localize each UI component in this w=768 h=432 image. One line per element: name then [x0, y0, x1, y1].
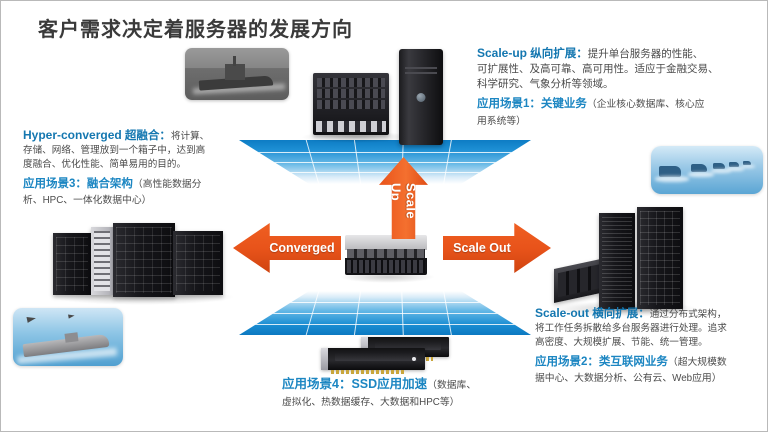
scale-up-desc-line-1: 提升单台服务器的性能、 [588, 48, 704, 60]
rack-unit [599, 213, 635, 309]
slide-canvas: 客户需求决定着服务器的发展方向 [0, 0, 768, 432]
hyper-converged-desc-line-3: 度融合、优化性能、简单易用的目的。 [23, 158, 255, 172]
scale-up-scenario-title: 应用场景1：关键业务 [477, 98, 587, 110]
scale-out-definition: Scale-out 横向扩展：通过分布式架构， 将工作任务拆散给多台服务器进行处… [535, 305, 767, 350]
grid-plane-face [239, 140, 531, 184]
scale-out-desc-line-1: 通过分布式架构， [650, 309, 727, 320]
scale-up-definition: Scale-up 纵向扩展：提升单台服务器的性能、 可扩展性、及高可靠、高可用性… [477, 45, 761, 92]
scale-up-text-block: Scale-up 纵向扩展：提升单台服务器的性能、 可扩展性、及高可靠、高可用性… [477, 45, 761, 129]
hyper-converged-desc-line-1: 将计算、 [171, 131, 209, 142]
scale-up-scenario-detail-2: 用系统等） [477, 115, 761, 129]
converged-arrow-label: Converged [263, 223, 341, 273]
converged-arrow[interactable]: Converged [233, 223, 341, 273]
scale-out-desc-line-2: 将工作任务拆散给多台服务器进行处理。追求 [535, 322, 767, 336]
page-title: 客户需求决定着服务器的发展方向 [38, 13, 353, 42]
battleship-photo [185, 48, 289, 100]
scale-up-term-cn: 纵向扩展 [530, 48, 576, 60]
hyper-converged-desc-line-2: 存储、网络、管理放到一个箱子中，达到高 [23, 144, 255, 158]
hyper-converged-definition: Hyper-converged 超融合：将计算、 存储、网络、管理放到一个箱子中… [23, 127, 255, 172]
hyper-converged-term-en: Hyper-converged [23, 128, 122, 142]
ssd-scenario-title: 应用场景4：SSD应用加速 [282, 377, 427, 391]
scale-up-scenario: 应用场景1：关键业务（企业核心数据库、核心应 用系统等） [477, 92, 761, 129]
ssd-scenario: 应用场景4：SSD应用加速（数据库、 虚拟化、热数据缓存、大数据和HPC等） [282, 373, 572, 410]
colon: ： [159, 130, 171, 142]
scale-up-desc-line-2: 可扩展性、及高可靠、高可用性。适应于金融交易、 [477, 62, 761, 77]
colon: ： [638, 308, 650, 320]
rack-unit [173, 231, 223, 295]
scale-out-term-en: Scale-out [535, 306, 589, 320]
ssd-card [321, 348, 425, 370]
ssd-scenario-detail-1: （数据库、 [427, 380, 476, 391]
blade-chassis-image [313, 73, 389, 135]
tower-server-image [399, 49, 443, 145]
hyper-converged-text-block: Hyper-converged 超融合：将计算、 存储、网络、管理放到一个箱子中… [23, 127, 255, 208]
perspective-grid-plane-bottom [239, 291, 531, 335]
scale-out-arrow[interactable]: Scale Out [443, 223, 551, 273]
hyper-converged-scenario-detail-1: （高性能数据分 [133, 179, 202, 190]
scale-up-scenario-detail-1: （企业核心数据库、核心应 [587, 99, 705, 110]
scale-up-desc-line-3: 科学研究、气象分析等领域。 [477, 77, 761, 92]
hyper-converged-scenario: 应用场景3：融合架构（高性能数据分 析、HPC、一体化数据中心） [23, 172, 255, 209]
pcie-ssd-cards-image [321, 337, 449, 371]
scale-out-scenario-title: 应用场景2：类互联网业务 [535, 356, 668, 368]
hyper-converged-scenario-title: 应用场景3：融合架构 [23, 178, 133, 190]
scale-out-arrow-label: Scale Out [443, 223, 521, 273]
hyper-converged-scenario-detail-2: 析、HPC、一体化数据中心） [23, 194, 255, 208]
scale-out-scenario-detail-1: （超大规模数 [668, 357, 727, 368]
grid-plane-face [239, 291, 531, 335]
ssd-scenario-detail-2: 虚拟化、热数据缓存、大数据和HPC等） [282, 396, 572, 410]
perspective-grid-plane-top [239, 140, 531, 184]
scale-out-term-cn: 横向扩展 [592, 308, 638, 320]
boat-fleet-photo [651, 146, 763, 194]
scale-up-arrow-label: Scale Up [379, 183, 428, 239]
rack-unit [53, 233, 91, 295]
rack-unit [91, 227, 113, 295]
rack-unit [113, 223, 175, 297]
rack-unit [637, 207, 683, 309]
rack-server-image [345, 235, 427, 275]
aircraft-carrier-photo [13, 308, 123, 366]
colon: ： [576, 48, 588, 60]
scale-out-desc-line-3: 高密度、大规模扩展、节能、统一管理。 [535, 336, 767, 350]
scale-up-term-en: Scale-up [477, 46, 527, 60]
hyper-converged-term-cn: 超融合 [125, 130, 160, 142]
ssd-text-block: 应用场景4：SSD应用加速（数据库、 虚拟化、热数据缓存、大数据和HPC等） [282, 373, 572, 410]
